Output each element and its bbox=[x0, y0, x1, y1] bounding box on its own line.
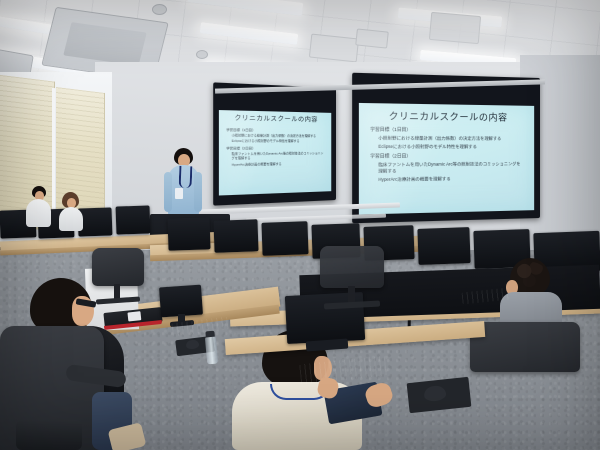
right-projector-screen: クリニカルスクールの内容 学習目標（1日目） 小照射野における線量計測（出力係数… bbox=[352, 73, 540, 224]
student-mid-left-b bbox=[56, 192, 86, 230]
ceiling-speaker bbox=[196, 50, 208, 59]
left-screen-surface: クリニカルスクールの内容 学習目標（1日目） 小照射野における線量計測（出力係数… bbox=[219, 110, 331, 195]
left-projector-screen: クリニカルスクールの内容 学習目標（1日目） 小照射野における線量計測（出力係数… bbox=[213, 82, 336, 205]
monitor bbox=[213, 219, 258, 253]
slide-section-heading: 学習目標（1日目） bbox=[226, 126, 325, 132]
presenter-arm bbox=[194, 172, 202, 212]
presenter-arm bbox=[164, 172, 172, 212]
slide-bullet: 小照射野における線量計測（出力係数）の決定方法を理解する bbox=[226, 133, 325, 138]
slide-section-heading: 学習目標（2日目） bbox=[226, 145, 325, 151]
slide-bullet: 臨床ファントムを用いたDynamic Arc等の照射技法のコミッショニングを理解… bbox=[370, 161, 524, 175]
ceiling-access-hatch bbox=[355, 28, 389, 48]
chair-middle bbox=[92, 248, 150, 310]
monitor bbox=[417, 227, 470, 265]
student-mid-left-a bbox=[24, 186, 54, 226]
monitor bbox=[261, 221, 308, 256]
chair-lumbar bbox=[16, 420, 82, 450]
monitor bbox=[116, 205, 151, 234]
classroom-photo: クリニカルスクールの内容 学習目標（1日目） 小照射野における線量計測（出力係数… bbox=[0, 0, 600, 450]
student-hair-texture bbox=[514, 262, 548, 292]
slide-bullet: Eclipseにおける小照射野のモデル特性を理解する bbox=[370, 143, 524, 149]
presenter-lanyard bbox=[179, 166, 193, 188]
ceiling-speaker bbox=[152, 4, 167, 15]
slide-title: クリニカルスクールの内容 bbox=[226, 116, 325, 125]
ceiling-access-hatch bbox=[309, 34, 359, 63]
chair-middle bbox=[320, 246, 392, 316]
monitor bbox=[159, 285, 203, 318]
ceiling-access-hatch bbox=[429, 12, 481, 44]
slide-title: クリニカルスクールの内容 bbox=[370, 112, 524, 124]
slide-section-heading: 学習目標（1日目） bbox=[370, 127, 524, 134]
slide-bullet: 小照射野における線量計測（出力係数）の決定方法を理解する bbox=[370, 135, 524, 142]
slide-bullet: HyperArc治療計画の概要を理解する bbox=[370, 175, 524, 183]
slide-section-heading: 学習目標（2日目） bbox=[370, 153, 524, 160]
slide-bullet: HyperArc治療計画の概要を理解する bbox=[226, 161, 325, 167]
right-slide: クリニカルスクールの内容 学習目標（1日目） 小照射野における線量計測（出力係数… bbox=[359, 103, 534, 215]
slide-bullet: 臨床ファントムを用いたDynamic Arc等の照射技法のコミッショニングを理解… bbox=[226, 151, 325, 160]
drink-bottle bbox=[205, 336, 218, 365]
chair bbox=[470, 322, 580, 372]
left-slide: クリニカルスクールの内容 学習目標（1日目） 小照射野における線量計測（出力係数… bbox=[219, 110, 331, 195]
slide-bullet: Eclipseにおける小照射野のモデル特性を理解する bbox=[226, 138, 325, 142]
right-screen-surface: クリニカルスクールの内容 学習目標（1日目） 小照射野における線量計測（出力係数… bbox=[359, 103, 534, 215]
monitor bbox=[167, 217, 210, 250]
presenter-id-card bbox=[175, 188, 183, 199]
